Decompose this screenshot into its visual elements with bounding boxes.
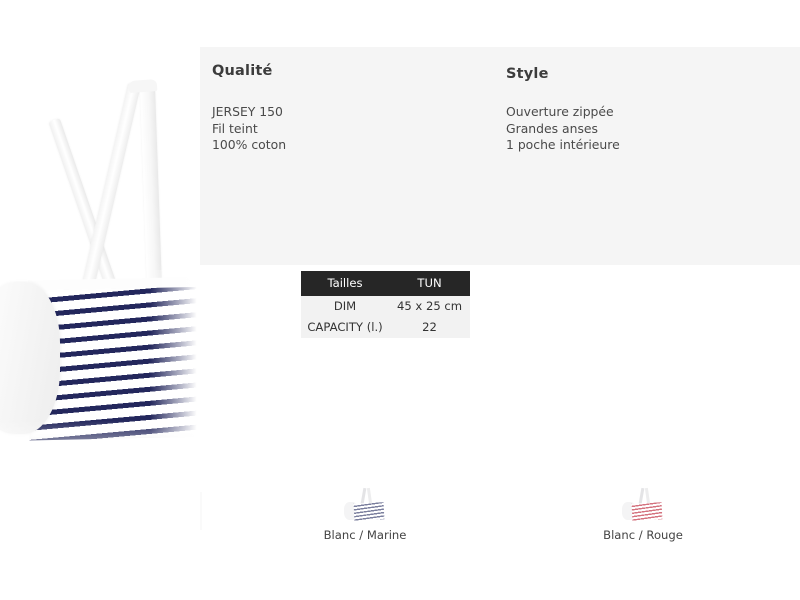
bag-handle-middle-icon bbox=[81, 83, 141, 291]
table-row: CAPACITY (l.) 22 bbox=[301, 317, 470, 338]
spec-item: JERSEY 150 bbox=[212, 104, 286, 121]
table-row: DIM 45 x 25 cm bbox=[301, 296, 470, 317]
thumb-handle-icon bbox=[367, 488, 372, 504]
color-swatch-label: Blanc / Marine bbox=[290, 528, 440, 542]
spec-item: 1 poche intérieure bbox=[506, 137, 620, 154]
swatch-divider bbox=[200, 492, 202, 530]
row-value-capacity: 22 bbox=[389, 317, 470, 338]
thumb-striped-body bbox=[354, 502, 385, 521]
spec-column-style: Style Ouverture zippée Grandes anses 1 p… bbox=[506, 47, 620, 154]
spec-item: Ouverture zippée bbox=[506, 104, 620, 121]
row-label-dim: DIM bbox=[301, 296, 389, 317]
spec-title-qualite: Qualité bbox=[212, 47, 286, 79]
spec-list-qualite: JERSEY 150 Fil teint 100% coton bbox=[212, 79, 286, 154]
row-value-dim: 45 x 25 cm bbox=[389, 296, 470, 317]
spec-list-style: Ouverture zippée Grandes anses 1 poche i… bbox=[506, 82, 620, 154]
size-table: Tailles TUN DIM 45 x 25 cm CAPACITY (l.)… bbox=[301, 271, 470, 338]
thumb-handle-icon bbox=[639, 488, 645, 504]
thumb-handle-icon bbox=[645, 488, 650, 504]
row-label-capacity: CAPACITY (l.) bbox=[301, 317, 389, 338]
tote-bag-thumbnail-icon bbox=[620, 488, 666, 522]
bag-handle-right-icon bbox=[140, 86, 162, 298]
spec-title-style: Style bbox=[506, 47, 620, 82]
spec-column-qualite: Qualité JERSEY 150 Fil teint 100% coton bbox=[212, 47, 286, 154]
tote-bag-thumbnail-icon bbox=[342, 488, 388, 522]
thumb-striped-body bbox=[632, 502, 663, 521]
color-swatch-blanc-marine[interactable]: Blanc / Marine bbox=[290, 488, 440, 542]
color-swatch-label: Blanc / Rouge bbox=[568, 528, 718, 542]
product-photo bbox=[0, 0, 200, 490]
spec-item: Fil teint bbox=[212, 121, 286, 138]
column-header-tun: TUN bbox=[389, 271, 470, 296]
bag-side-panel bbox=[0, 282, 60, 434]
photo-bottom-fade bbox=[0, 420, 200, 490]
color-swatch-blanc-rouge[interactable]: Blanc / Rouge bbox=[568, 488, 718, 542]
table-header-row: Tailles TUN bbox=[301, 271, 470, 296]
column-header-tailles: Tailles bbox=[301, 271, 389, 296]
specification-panel: Qualité JERSEY 150 Fil teint 100% coton … bbox=[200, 47, 800, 265]
spec-item: 100% coton bbox=[212, 137, 286, 154]
spec-item: Grandes anses bbox=[506, 121, 620, 138]
bag-handle-top-icon bbox=[129, 79, 158, 93]
thumb-handle-icon bbox=[361, 488, 367, 504]
